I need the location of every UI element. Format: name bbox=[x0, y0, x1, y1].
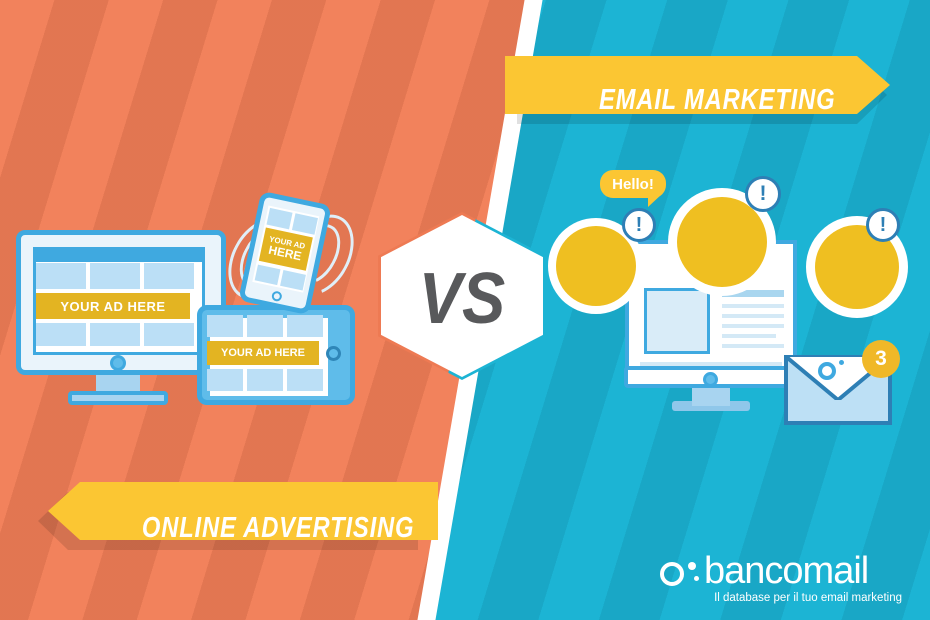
email-banner-label: EMAIL MARKETING bbox=[599, 84, 835, 117]
phone-ad-banner: YOUR AD HERE bbox=[259, 227, 313, 270]
logo-dot-large bbox=[688, 562, 696, 570]
logo-dot-small bbox=[694, 576, 699, 581]
speech-bubble-tail bbox=[648, 194, 662, 207]
newsletter-text-line bbox=[722, 324, 784, 328]
avatar-alert-badge: ! bbox=[745, 176, 781, 212]
email-monitor-neck bbox=[692, 388, 730, 406]
tablet-cells-top bbox=[207, 315, 323, 337]
monitor-cells-top bbox=[36, 263, 194, 289]
monitor-base bbox=[68, 391, 168, 405]
online-advertising-banner: ONLINE ADVERTISING bbox=[48, 482, 448, 548]
envelope-count-badge: 3 bbox=[862, 340, 900, 378]
monitor-power-dot bbox=[110, 355, 126, 371]
bancomail-logo: bancomail Il database per il tuo email m… bbox=[656, 552, 902, 610]
phone-home-button bbox=[271, 290, 283, 302]
tablet-cells-bottom bbox=[207, 369, 323, 391]
newsletter-text-line bbox=[722, 334, 776, 338]
versus-hexagon: VS bbox=[372, 206, 552, 386]
tablet-ad-banner: YOUR AD HERE bbox=[207, 341, 319, 365]
email-marketing-banner: EMAIL MARKETING bbox=[505, 56, 895, 118]
versus-label: VS bbox=[381, 258, 543, 340]
monitor-browser-bar bbox=[36, 250, 202, 262]
avatar-alert-badge: ! bbox=[866, 208, 900, 242]
envelope-logo-mark bbox=[818, 362, 836, 380]
newsletter-text-line bbox=[722, 304, 784, 308]
newsletter-text-line bbox=[722, 314, 784, 318]
envelope-logo-dot bbox=[839, 360, 844, 365]
monitor-cells-bottom bbox=[36, 323, 194, 346]
ads-banner-label: ONLINE ADVERTISING bbox=[142, 512, 414, 545]
logo-tagline: Il database per il tuo email marketing bbox=[714, 592, 902, 604]
monitor-ad-banner: YOUR AD HERE bbox=[36, 293, 190, 319]
tablet-home-button bbox=[326, 346, 341, 361]
avatar-alert-badge: ! bbox=[622, 208, 656, 242]
logo-o-icon bbox=[660, 562, 684, 586]
newsletter-photo bbox=[644, 288, 710, 354]
email-monitor-power-dot bbox=[703, 372, 718, 387]
logo-wordmark: bancomail bbox=[704, 550, 868, 593]
comparison-infographic: YOUR AD HERE YOUR AD HERE YOUR AD HERE bbox=[0, 0, 930, 620]
newsletter-text-line bbox=[722, 344, 784, 348]
phone-screen: YOUR AD HERE bbox=[252, 206, 319, 293]
